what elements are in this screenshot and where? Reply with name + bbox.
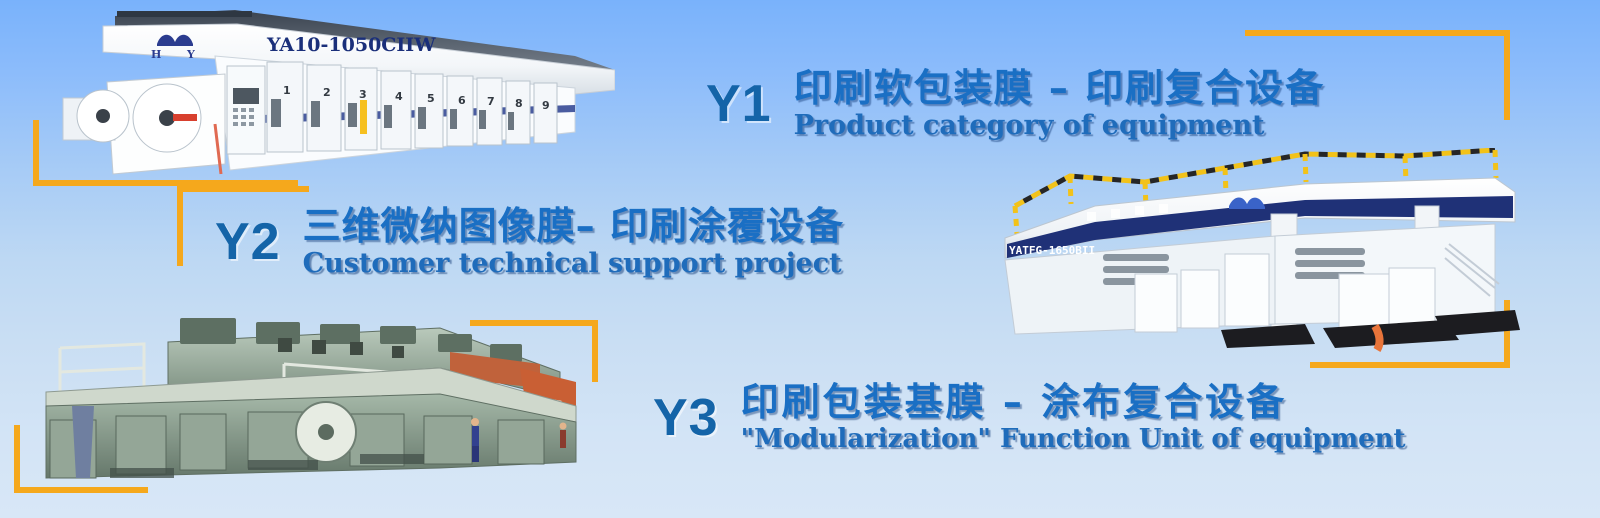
svg-text:5: 5 — [427, 92, 435, 105]
text-lines-y2: 三维微纳图像膜– 印刷涂覆设备 Customer technical suppo… — [303, 204, 844, 279]
svg-text:2: 2 — [323, 86, 331, 99]
svg-text:H: H — [151, 48, 161, 61]
machine-image-printing-press: 123 456 789 — [55, 4, 615, 179]
worker-figure — [471, 418, 479, 462]
headline-en-y1: Product category of equipment — [794, 110, 1325, 141]
text-block-y2: Y2 三维微纳图像膜– 印刷涂覆设备 Customer technical su… — [215, 204, 844, 279]
svg-text:Y: Y — [186, 48, 195, 61]
text-block-y3: Y3 印刷包装基膜 – 涂布复合设备 "Modularization" Func… — [653, 380, 1406, 455]
headline-cn-y2: 三维微纳图像膜– 印刷涂覆设备 — [303, 204, 844, 248]
svg-text:8: 8 — [515, 97, 523, 110]
text-block-y1: Y1 印刷软包装膜 – 印刷复合设备 Product category of e… — [706, 66, 1325, 141]
machine-image-base-film-line — [20, 302, 580, 492]
product-category-banner: 123 456 789 — [0, 0, 1600, 518]
text-lines-y1: 印刷软包装膜 – 印刷复合设备 Product category of equi… — [794, 66, 1325, 141]
headline-cn-y1: 印刷软包装膜 – 印刷复合设备 — [794, 66, 1325, 110]
headline-en-y2: Customer technical support project — [303, 248, 844, 279]
svg-text:1: 1 — [283, 84, 291, 97]
svg-text:9: 9 — [542, 99, 550, 112]
svg-text:7: 7 — [487, 95, 495, 108]
machine-model-label-printing: YA10-1050CIIW — [266, 34, 436, 56]
headline-en-y3: "Modularization" Function Unit of equipm… — [741, 424, 1406, 455]
machine-image-coating-machine: YATFG-1650BII — [975, 148, 1520, 363]
svg-text:4: 4 — [395, 90, 403, 103]
tag-label-y3: Y3 — [653, 392, 719, 444]
svg-text:3: 3 — [359, 88, 367, 101]
tag-label-y1: Y1 — [706, 78, 772, 130]
machine-model-label-coating: YATFG-1650BII — [1009, 244, 1095, 257]
text-lines-y3: 印刷包装基膜 – 涂布复合设备 "Modularization" Functio… — [741, 380, 1406, 455]
headline-cn-y3: 印刷包装基膜 – 涂布复合设备 — [741, 380, 1406, 424]
svg-text:6: 6 — [458, 94, 466, 107]
tag-label-y2: Y2 — [215, 216, 281, 268]
